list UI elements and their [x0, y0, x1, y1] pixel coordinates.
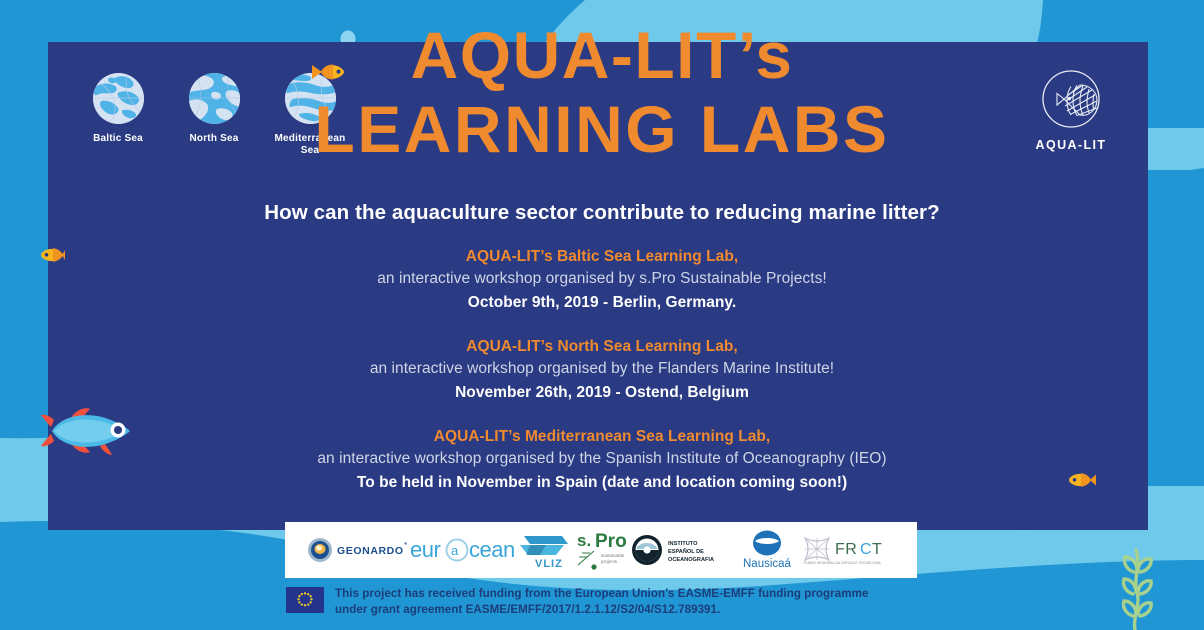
poster-canvas: Baltic Sea: [0, 0, 1204, 630]
funding-statement: This project has received funding from t…: [286, 586, 868, 617]
subtitle: How can the aquaculture sector contribut…: [0, 201, 1204, 225]
seaweed-icon: [1110, 548, 1166, 630]
page-title-line-1: AQUA-LIT’s: [411, 18, 794, 92]
svg-text:Pro: Pro: [595, 531, 627, 552]
svg-text:*: *: [404, 541, 407, 550]
funding-line-1: This project has received funding from t…: [335, 586, 868, 602]
event-subtitle: an interactive workshop organised by the…: [0, 448, 1204, 470]
funding-text: This project has received funding from t…: [335, 586, 868, 617]
nausicaa-logo: Nausicaá: [736, 529, 798, 571]
svg-text:ESPAÑOL DE: ESPAÑOL DE: [668, 548, 704, 555]
event-item: AQUA-LIT’s Baltic Sea Learning Lab, an i…: [0, 245, 1204, 314]
svg-text:eur: eur: [410, 537, 440, 562]
spro-logo: s. Pro sustainable projects: [574, 529, 630, 571]
svg-text:VLIZ: VLIZ: [535, 558, 563, 569]
funding-line-2: under grant agreement EASME/EMFF/2017/1.…: [335, 602, 868, 618]
frct-logo: FR C T FUNDO REGIONAL DA CIÊNCIA E TECNO…: [799, 533, 895, 567]
ieo-logo: INSTITUTO ESPAÑOL DE OCEANOGRAFIA: [631, 534, 735, 566]
event-title: AQUA-LIT’s North Sea Learning Lab,: [0, 335, 1204, 358]
european-union-flag-icon: [286, 587, 324, 613]
svg-text:sustainable: sustainable: [601, 553, 625, 558]
vliz-logo: VLIZ: [516, 531, 574, 569]
event-item: AQUA-LIT’s Mediterranean Sea Learning La…: [0, 425, 1204, 494]
event-title: AQUA-LIT’s Baltic Sea Learning Lab,: [0, 245, 1204, 268]
svg-text:C: C: [860, 541, 872, 558]
svg-text:projects: projects: [601, 559, 618, 564]
page-title: AQUA-LIT’s LEARNING LABS: [0, 24, 1204, 160]
geonardo-logo: GEONARDO *: [307, 537, 409, 563]
svg-text:GEONARDO: GEONARDO: [337, 545, 404, 557]
event-subtitle: an interactive workshop organised by the…: [0, 358, 1204, 380]
event-item: AQUA-LIT’s North Sea Learning Lab, an in…: [0, 335, 1204, 404]
event-date: November 26th, 2019 - Ostend, Belgium: [0, 381, 1204, 404]
svg-text:T: T: [872, 541, 882, 558]
svg-text:Nausicaá: Nausicaá: [743, 558, 792, 570]
eurocean-logo: eur a cean: [410, 537, 515, 563]
svg-text:a: a: [451, 543, 459, 558]
svg-text:s.: s.: [577, 531, 591, 550]
event-date: October 9th, 2019 - Berlin, Germany.: [0, 291, 1204, 314]
svg-text:FUNDO REGIONAL DA CIÊNCIA E TE: FUNDO REGIONAL DA CIÊNCIA E TECNOLOGIA: [804, 560, 881, 565]
svg-text:OCEANOGRAFIA: OCEANOGRAFIA: [668, 557, 714, 563]
svg-text:INSTITUTO: INSTITUTO: [668, 541, 698, 547]
event-subtitle: an interactive workshop organised by s.P…: [0, 268, 1204, 290]
page-title-line-2: LEARNING LABS: [0, 98, 1204, 161]
svg-text:FR: FR: [835, 541, 857, 558]
event-date: To be held in November in Spain (date an…: [0, 471, 1204, 494]
event-title: AQUA-LIT’s Mediterranean Sea Learning La…: [0, 425, 1204, 448]
partner-logo-strip: GEONARDO * eur a cean VLIZ s. Pro: [285, 522, 917, 578]
event-list: AQUA-LIT’s Baltic Sea Learning Lab, an i…: [0, 245, 1204, 494]
svg-text:cean: cean: [469, 537, 515, 562]
